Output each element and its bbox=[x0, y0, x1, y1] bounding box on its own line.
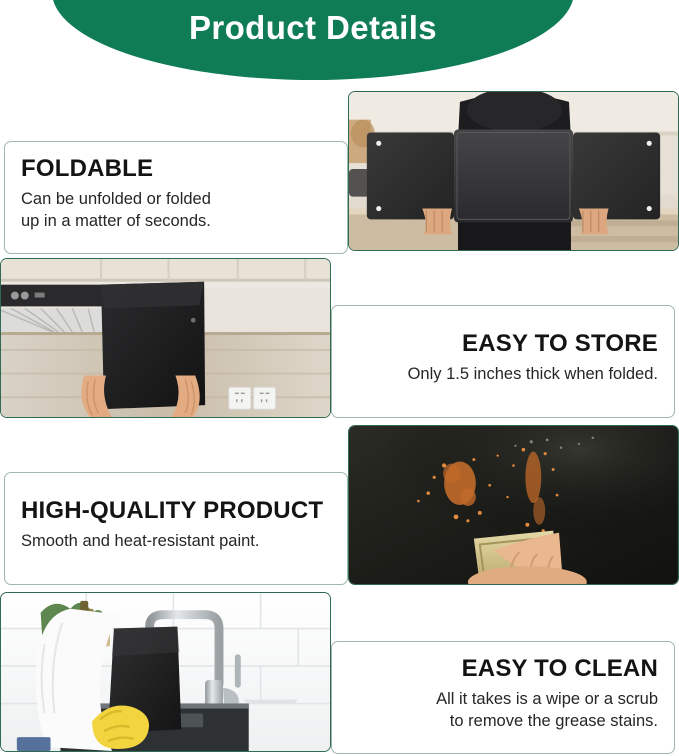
header-banner: Product Details bbox=[52, 0, 574, 80]
feature-photo-easy-to-store bbox=[0, 258, 331, 418]
feature-row: HIGH-QUALITY PRODUCT Smooth and heat-res… bbox=[0, 422, 679, 588]
feature-row: EASY TO CLEAN All it takes is a wipe or … bbox=[0, 589, 679, 755]
feature-rows: FOLDABLE Can be unfolded or folded up in… bbox=[0, 88, 679, 756]
feature-heading: HIGH-QUALITY PRODUCT bbox=[21, 497, 323, 525]
feature-heading: EASY TO STORE bbox=[462, 330, 658, 358]
feature-body: Only 1.5 inches thick when folded. bbox=[408, 364, 658, 386]
photo-grease-splatter bbox=[349, 426, 678, 584]
feature-text-card: FOLDABLE Can be unfolded or folded up in… bbox=[4, 141, 348, 254]
feature-text-card: HIGH-QUALITY PRODUCT Smooth and heat-res… bbox=[4, 472, 348, 585]
feature-text-card: EASY TO CLEAN All it takes is a wipe or … bbox=[331, 641, 675, 754]
page-title: Product Details bbox=[189, 11, 437, 80]
feature-photo-foldable bbox=[348, 91, 679, 251]
photo-folded-panel bbox=[1, 259, 330, 417]
photo-washing-panel bbox=[1, 593, 330, 751]
feature-row: FOLDABLE Can be unfolded or folded up in… bbox=[0, 88, 679, 254]
feature-heading: FOLDABLE bbox=[21, 155, 153, 183]
feature-photo-easy-to-clean bbox=[0, 592, 331, 752]
feature-body: Can be unfolded or folded up in a matter… bbox=[21, 189, 211, 233]
feature-body: Smooth and heat-resistant paint. bbox=[21, 531, 259, 553]
feature-row: EASY TO STORE Only 1.5 inches thick when… bbox=[0, 255, 679, 421]
feature-body: All it takes is a wipe or a scrub to rem… bbox=[436, 689, 658, 733]
feature-text-card: EASY TO STORE Only 1.5 inches thick when… bbox=[331, 305, 675, 418]
photo-unfolded-cover bbox=[349, 92, 678, 250]
feature-heading: EASY TO CLEAN bbox=[462, 655, 658, 683]
feature-photo-high-quality bbox=[348, 425, 679, 585]
